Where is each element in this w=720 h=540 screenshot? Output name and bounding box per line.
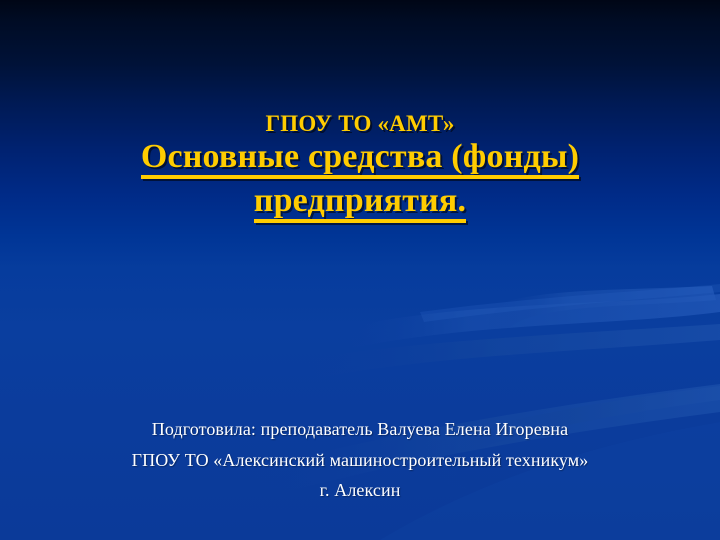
slide-subtitle: Подготовила: преподаватель Валуева Елена… bbox=[24, 414, 696, 506]
presentation-slide: ГПОУ ТО «АМТ» Основные средства (фонды) … bbox=[0, 0, 720, 540]
slide-title: ГПОУ ТО «АМТ» Основные средства (фонды) … bbox=[24, 112, 696, 222]
subtitle-institution-line: ГПОУ ТО «Алексинский машиностроительный … bbox=[24, 445, 696, 476]
title-heading-line-2: предприятия. bbox=[254, 183, 466, 222]
subtitle-city-line: г. Алексин bbox=[24, 475, 696, 506]
title-heading-line-1: Основные средства (фонды) bbox=[141, 139, 579, 178]
title-organization-line: ГПОУ ТО «АМТ» bbox=[24, 112, 696, 136]
subtitle-author-line: Подготовила: преподаватель Валуева Елена… bbox=[24, 414, 696, 445]
